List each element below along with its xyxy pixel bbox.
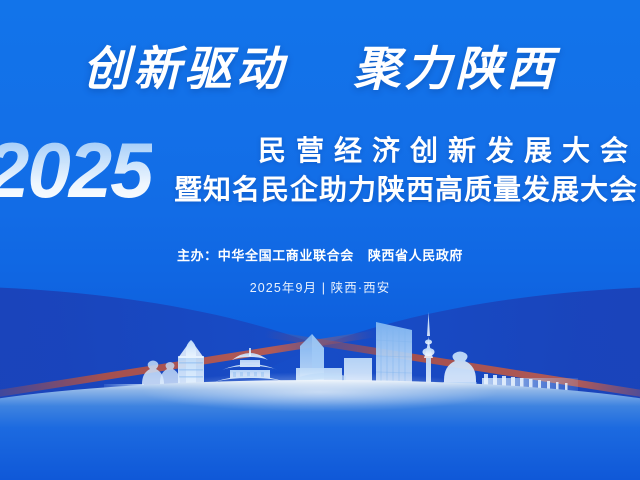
- conference-poster: 创新驱动 聚力陕西 2025 民营经济创新发展大会 暨知名民企助力陕西高质量发展…: [0, 0, 640, 480]
- organizer-label: 主办：: [177, 248, 218, 263]
- headline-part-2: 聚力陕西: [353, 42, 557, 97]
- calligraphy-headline: 创新驱动 聚力陕西: [0, 46, 640, 93]
- main-title-line-2: 暨知名民企助力陕西高质量发展大会: [150, 170, 638, 210]
- date-location-line: 2025年9月 | 陕西·西安: [0, 277, 640, 296]
- main-title-line-1: 民营经济创新发展大会: [150, 132, 638, 170]
- main-title-block: 民营经济创新发展大会 暨知名民企助力陕西高质量发展大会: [150, 132, 640, 210]
- organizer-name-1: 中华全国工商业联合会: [218, 248, 354, 263]
- organizer-line: 主办：中华全国工商业联合会陕西省人民政府: [0, 245, 640, 264]
- organizer-name-2: 陕西省人民政府: [368, 248, 463, 263]
- year-numerals: 2025: [0, 128, 152, 212]
- headline-part-1: 创新驱动: [83, 42, 287, 97]
- ground-plane: [0, 380, 640, 480]
